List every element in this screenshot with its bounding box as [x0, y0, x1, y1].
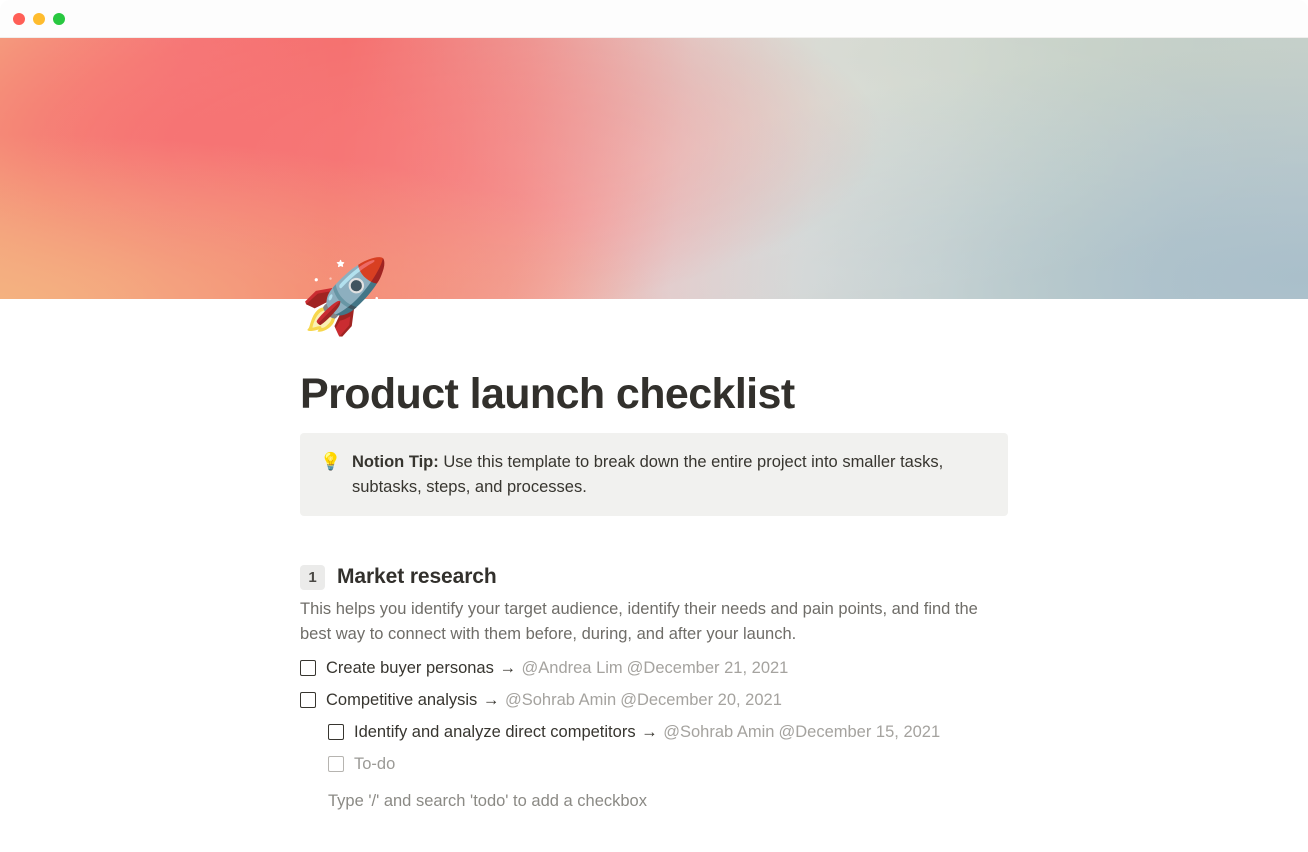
checkbox-unchecked-icon[interactable] — [300, 660, 316, 676]
todo-content: Identify and analyze direct competitors … — [354, 720, 940, 745]
todo-item[interactable]: Competitive analysis → @Sohrab Amin@Dece… — [300, 684, 1060, 716]
arrow-right-icon: → — [494, 659, 522, 677]
todo-list: Create buyer personas → @Andrea Lim@Dece… — [300, 652, 1060, 780]
page-cover-banner[interactable] — [0, 38, 1308, 299]
todo-label: To-do — [354, 755, 395, 773]
minimize-window-button[interactable] — [33, 13, 45, 25]
checkbox-unchecked-icon[interactable] — [300, 692, 316, 708]
checkbox-unchecked-icon[interactable] — [328, 756, 344, 772]
checkbox-unchecked-icon[interactable] — [328, 724, 344, 740]
person-mention[interactable]: @Andrea Lim — [522, 659, 623, 677]
section-description[interactable]: This helps you identify your target audi… — [300, 597, 990, 646]
todo-item[interactable]: Identify and analyze direct competitors … — [328, 716, 1060, 748]
date-mention[interactable]: @December 15, 2021 — [778, 723, 940, 741]
section-number-badge: 1 — [300, 565, 325, 590]
person-mention[interactable]: @Sohrab Amin — [663, 723, 774, 741]
section-market-research: 1 Market research This helps you identif… — [300, 564, 1060, 814]
todo-item[interactable]: To-do — [328, 748, 1060, 780]
checkbox-hint: Type '/' and search 'todo' to add a chec… — [328, 789, 1060, 814]
traffic-light-group — [13, 13, 65, 25]
page-content: Product launch checklist 💡 Notion Tip: U… — [0, 299, 1308, 852]
arrow-right-icon: → — [477, 691, 505, 709]
todo-label: Competitive analysis — [326, 691, 477, 709]
todo-content: Competitive analysis → @Sohrab Amin@Dece… — [326, 688, 782, 713]
cover-highlight — [0, 38, 1308, 299]
close-window-button[interactable] — [13, 13, 25, 25]
person-mention[interactable]: @Sohrab Amin — [505, 691, 616, 709]
todo-label: Create buyer personas — [326, 659, 494, 677]
notion-tip-callout[interactable]: 💡 Notion Tip: Use this template to break… — [300, 433, 1008, 516]
arrow-right-icon: → — [636, 723, 664, 741]
page-title[interactable]: Product launch checklist — [300, 368, 795, 420]
window-titlebar — [0, 0, 1308, 38]
todo-content: To-do — [354, 752, 395, 777]
date-mention[interactable]: @December 20, 2021 — [620, 691, 782, 709]
callout-body: Use this template to break down the enti… — [352, 453, 943, 496]
app-window: 🚀 Product launch checklist 💡 Notion Tip:… — [0, 0, 1308, 852]
maximize-window-button[interactable] — [53, 13, 65, 25]
section-title[interactable]: Market research — [337, 564, 497, 590]
callout-text: Notion Tip: Use this template to break d… — [352, 450, 986, 499]
todo-item[interactable]: Create buyer personas → @Andrea Lim@Dece… — [300, 652, 1060, 684]
todo-content: Create buyer personas → @Andrea Lim@Dece… — [326, 656, 788, 681]
callout-label: Notion Tip: — [352, 453, 439, 471]
rocket-icon[interactable]: 🚀 — [300, 255, 384, 339]
todo-label: Identify and analyze direct competitors — [354, 723, 636, 741]
lightbulb-icon: 💡 — [320, 450, 340, 499]
section-heading: 1 Market research — [300, 564, 1060, 590]
date-mention[interactable]: @December 21, 2021 — [627, 659, 789, 677]
